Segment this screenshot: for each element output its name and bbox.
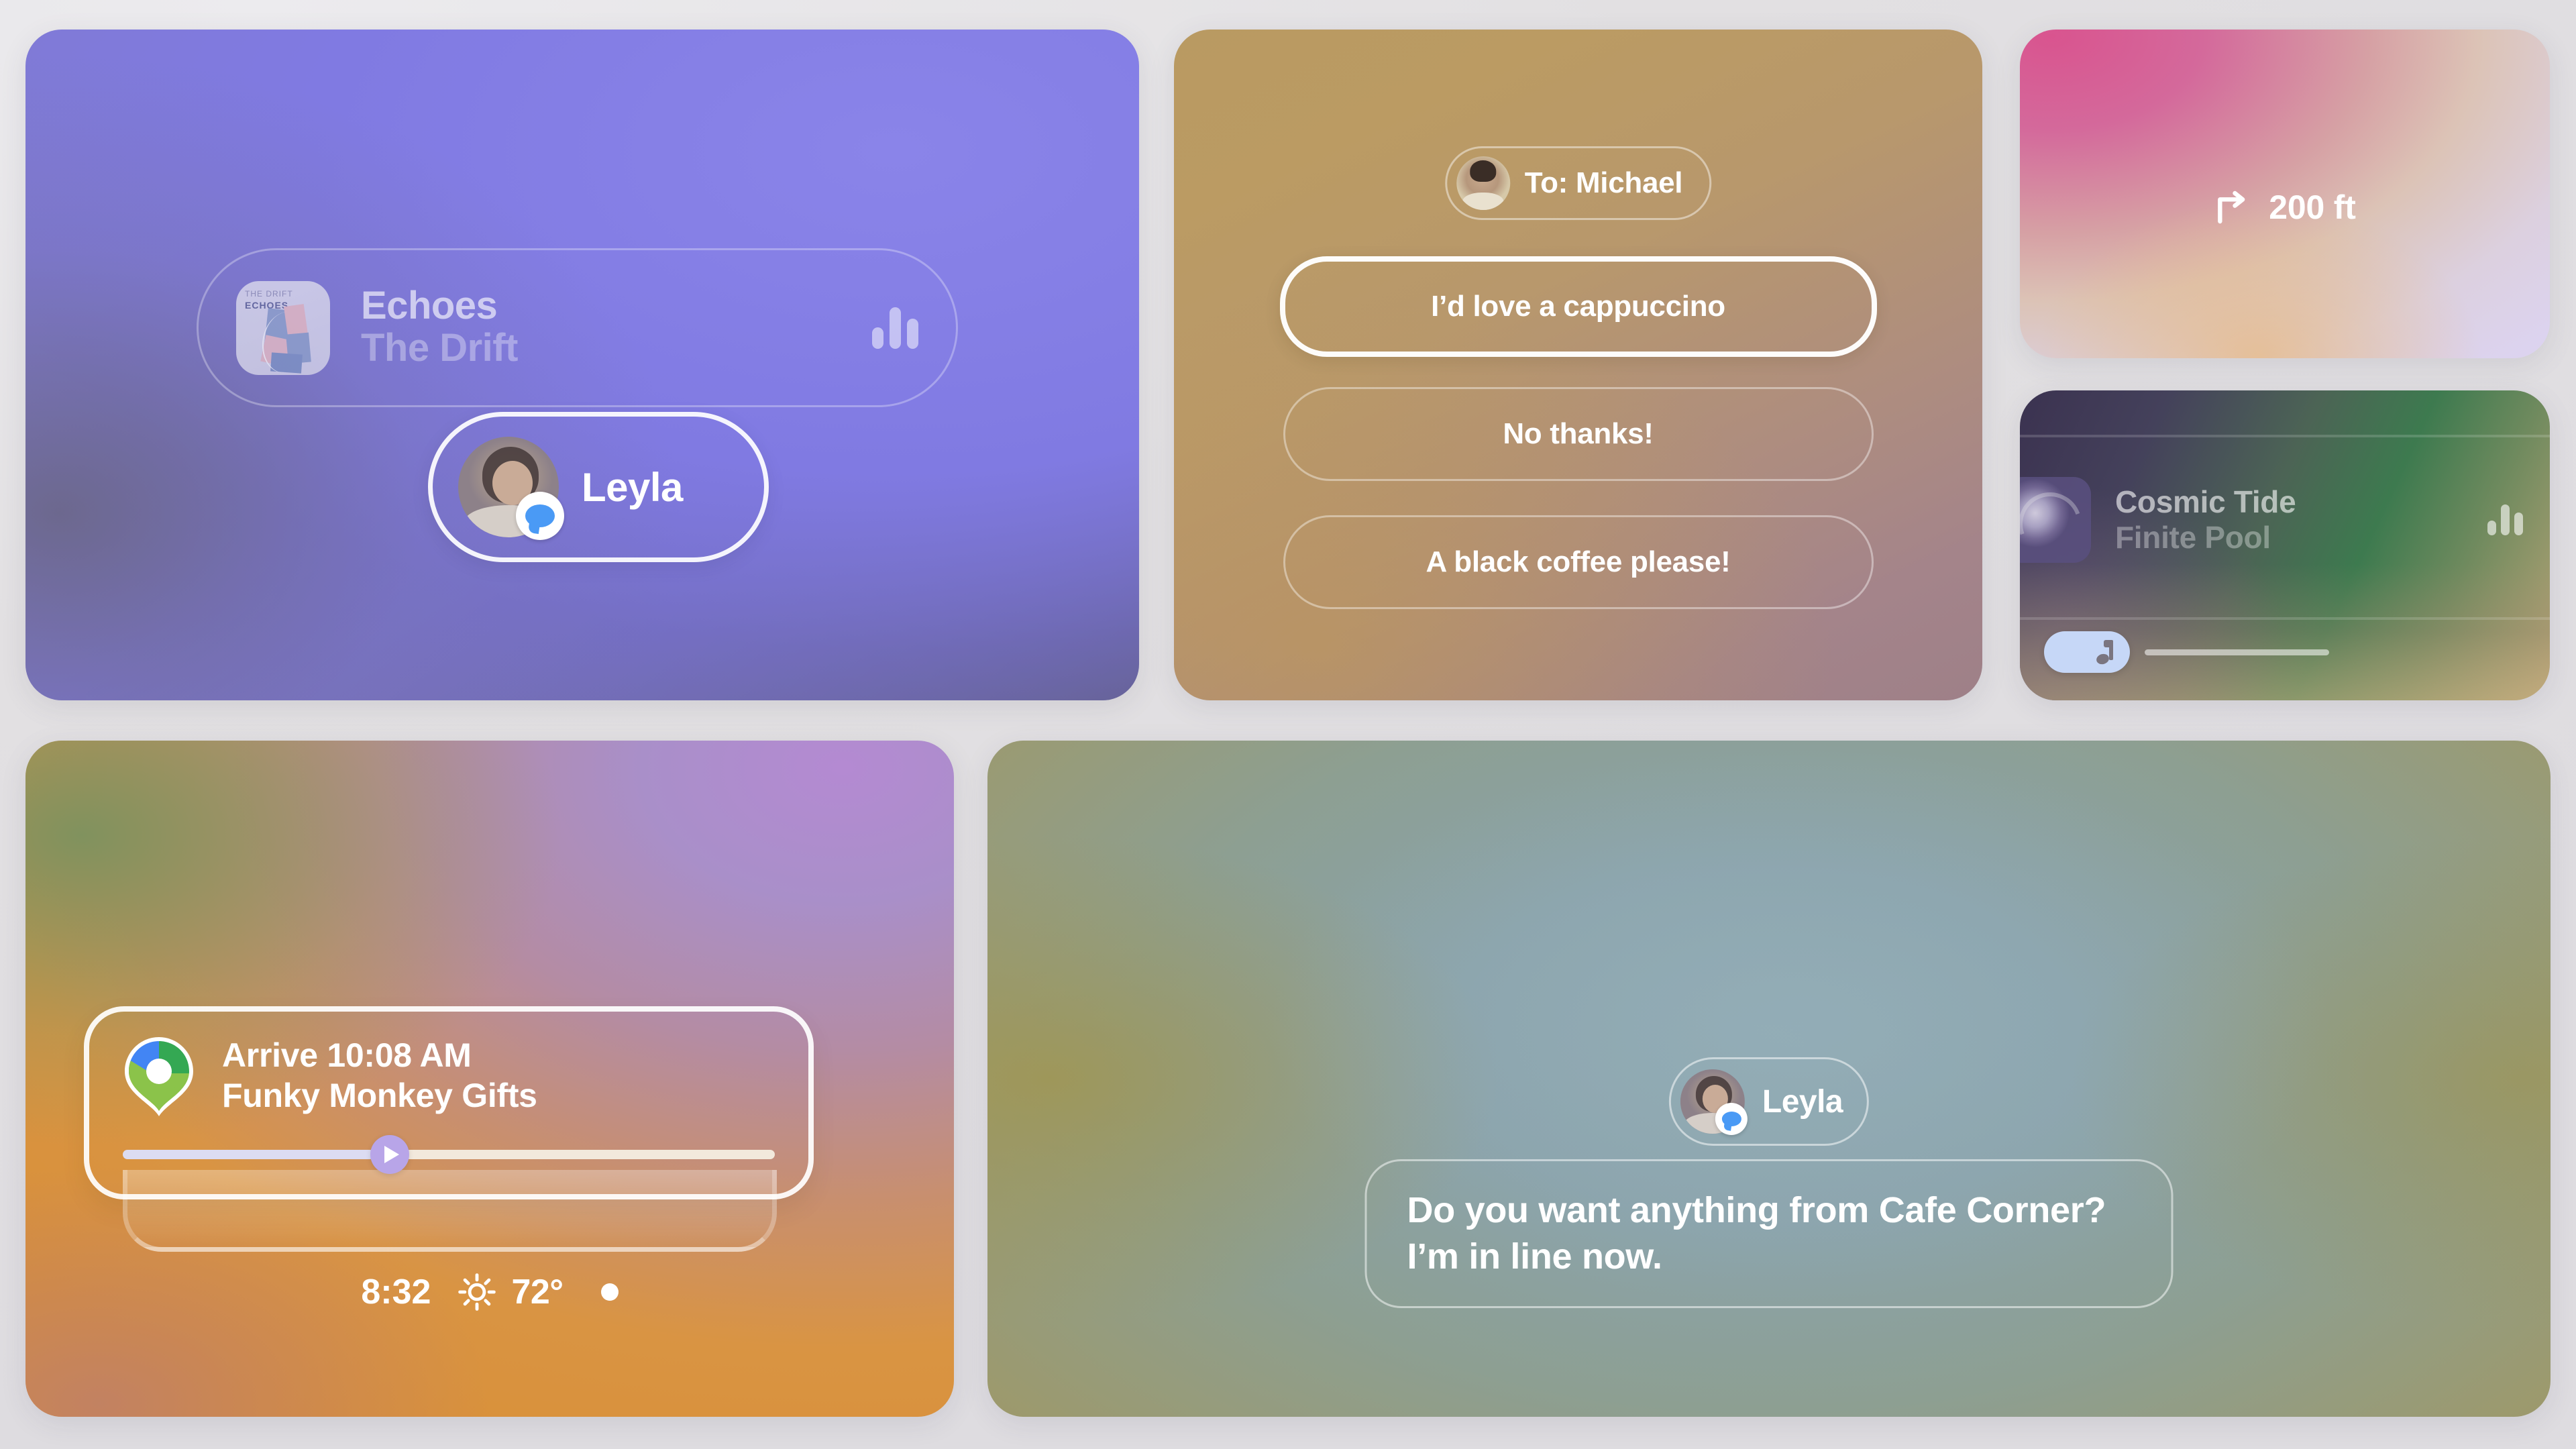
equalizer-icon xyxy=(872,307,918,349)
messages-badge-icon xyxy=(516,492,564,540)
clock-time: 8:32 xyxy=(361,1272,431,1312)
route-progress-slider[interactable] xyxy=(123,1143,775,1166)
reply-option-2[interactable]: A black coffee please! xyxy=(1283,515,1874,609)
track-title: Cosmic Tide xyxy=(2115,484,2296,519)
navigation-maneuver-row: 200 ft xyxy=(2020,188,2550,227)
cosmic-now-playing-row[interactable]: Cosmic Tide Finite Pool xyxy=(2020,456,2550,584)
recipient-label: To: Michael xyxy=(1525,166,1682,200)
message-body: Do you want anything from Cafe Corner? I… xyxy=(1407,1187,2131,1280)
divider xyxy=(2020,617,2550,620)
eta-header: Arrive 10:08 AM Funky Monkey Gifts xyxy=(123,1036,537,1116)
album-art-title-label: ECHOES xyxy=(245,300,288,311)
contact-pill-leyla[interactable]: Leyla xyxy=(428,412,769,562)
turn-right-icon xyxy=(2214,189,2251,226)
now-playing-meta: Echoes The Drift xyxy=(361,285,518,371)
eta-arrival: Arrive 10:08 AM xyxy=(222,1036,537,1075)
reply-option-label: No thanks! xyxy=(1503,417,1653,451)
message-sender-pill[interactable]: Leyla xyxy=(1669,1057,1869,1146)
reply-option-label: A black coffee please! xyxy=(1426,545,1731,579)
cosmic-player-card[interactable]: Cosmic Tide Finite Pool xyxy=(2020,390,2550,700)
music-note-icon[interactable] xyxy=(2044,631,2130,673)
messages-badge-icon xyxy=(1715,1103,1748,1135)
now-playing-contact-card[interactable]: THE DRIFT ECHOES Echoes The Drift Leyla xyxy=(25,30,1139,700)
now-playing-pill[interactable]: THE DRIFT ECHOES Echoes The Drift xyxy=(197,248,958,407)
eta-card[interactable]: Arrive 10:08 AM Funky Monkey Gifts xyxy=(84,1006,814,1199)
navigation-card[interactable]: 200 ft xyxy=(2020,30,2550,358)
dot-indicator xyxy=(601,1283,619,1301)
progress-track[interactable] xyxy=(2145,649,2329,655)
progress-track-remaining xyxy=(405,1150,775,1159)
message-bubble: Do you want anything from Cafe Corner? I… xyxy=(1365,1159,2173,1308)
reply-suggestions-card[interactable]: To: Michael I’d love a cappuccino No tha… xyxy=(1174,30,1982,700)
reply-option-0[interactable]: I’d love a cappuccino xyxy=(1280,256,1877,357)
widget-wall: THE DRIFT ECHOES Echoes The Drift Leyla xyxy=(0,0,2576,1449)
incoming-message-card[interactable]: Leyla Do you want anything from Cafe Cor… xyxy=(987,741,2551,1417)
album-art-wave xyxy=(258,309,315,375)
contact-name: Leyla xyxy=(582,464,683,511)
avatar xyxy=(1680,1069,1745,1134)
progress-track-filled xyxy=(123,1150,374,1159)
eta-text: Arrive 10:08 AM Funky Monkey Gifts xyxy=(222,1036,537,1116)
temperature: 72° xyxy=(511,1272,563,1312)
message-sender-name: Leyla xyxy=(1762,1083,1843,1120)
sun-icon xyxy=(458,1273,496,1311)
reply-option-1[interactable]: No thanks! xyxy=(1283,387,1874,481)
track-title: Echoes xyxy=(361,285,518,327)
google-maps-pin-icon xyxy=(123,1036,195,1116)
divider xyxy=(2020,435,2550,437)
reply-option-label: I’d love a cappuccino xyxy=(1431,290,1725,323)
album-art-artist-label: THE DRIFT xyxy=(245,289,293,299)
navigation-arrow-icon[interactable] xyxy=(370,1135,409,1174)
track-artist: Finite Pool xyxy=(2115,519,2296,555)
avatar xyxy=(1456,156,1510,210)
album-art xyxy=(2020,477,2091,563)
status-row: 8:32 72° xyxy=(25,1272,954,1312)
track-artist: The Drift xyxy=(361,327,518,370)
album-art: THE DRIFT ECHOES xyxy=(236,281,330,375)
navigation-distance: 200 ft xyxy=(2269,188,2355,227)
maps-eta-card[interactable]: Arrive 10:08 AM Funky Monkey Gifts 8:32 xyxy=(25,741,954,1417)
cosmic-meta: Cosmic Tide Finite Pool xyxy=(2115,484,2296,556)
eta-destination: Funky Monkey Gifts xyxy=(222,1075,537,1116)
cosmic-seek-row[interactable] xyxy=(2020,627,2550,678)
avatar xyxy=(458,437,559,537)
equalizer-icon xyxy=(2487,504,2523,535)
recipient-pill[interactable]: To: Michael xyxy=(1445,146,1711,220)
